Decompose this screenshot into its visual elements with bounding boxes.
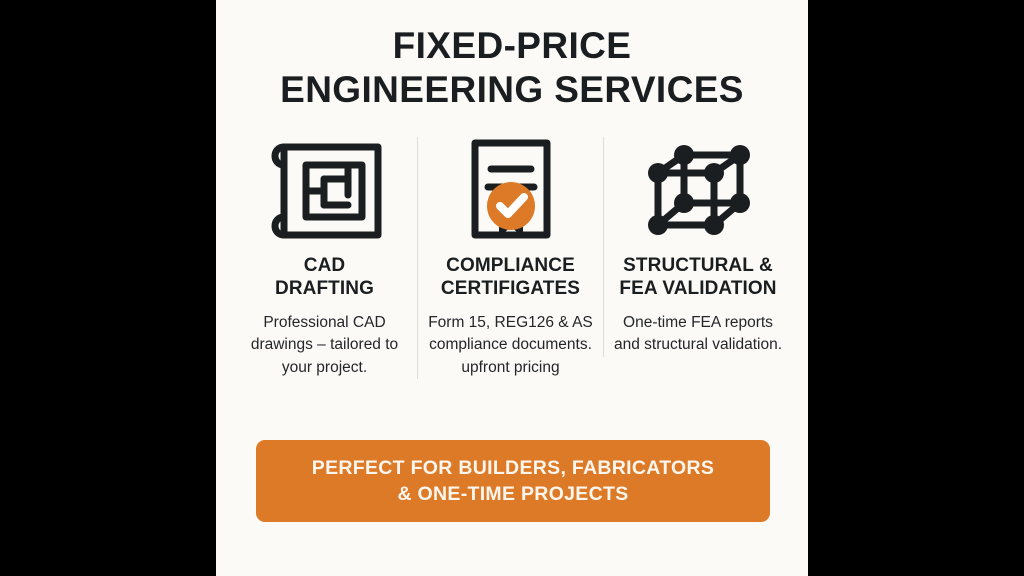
title-line-2: ENGINEERING SERVICES bbox=[280, 68, 744, 112]
certificate-seal-icon bbox=[455, 137, 567, 245]
feature-heading-line-1: CAD bbox=[275, 255, 374, 278]
feature-heading-line-1: STRUCTURAL & bbox=[619, 255, 776, 278]
promo-banner-line-1: PERFECT FOR BUILDERS, FABRICATORS bbox=[312, 455, 714, 481]
feature-body-cad-drafting: Professional CAD drawings – tailored to … bbox=[238, 312, 411, 379]
page-title: FIXED-PRICE ENGINEERING SERVICES bbox=[280, 24, 744, 111]
promo-banner: PERFECT FOR BUILDERS, FABRICATORS & ONE-… bbox=[256, 440, 770, 522]
feature-column-structural-fea-validation: STRUCTURAL & FEA VALIDATION One-time FEA… bbox=[603, 137, 792, 357]
promo-card: FIXED-PRICE ENGINEERING SERVICES bbox=[216, 0, 808, 576]
mesh-cube-icon bbox=[636, 137, 760, 245]
promo-banner-line-2: & ONE-TIME PROJECTS bbox=[312, 481, 714, 507]
feature-heading-line-2: DRAFTING bbox=[275, 278, 374, 301]
feature-heading-compliance-certificates: COMPLIANCE CERTIFIGATES bbox=[441, 255, 580, 301]
feature-heading-cad-drafting: CAD DRAFTING bbox=[275, 255, 374, 301]
feature-heading-line-2: FEA VALIDATION bbox=[619, 278, 776, 301]
screenshot-stage: FIXED-PRICE ENGINEERING SERVICES bbox=[0, 0, 1024, 576]
feature-heading-structural-fea-validation: STRUCTURAL & FEA VALIDATION bbox=[619, 255, 776, 301]
title-line-1: FIXED-PRICE bbox=[280, 24, 744, 68]
feature-column-cad-drafting: CAD DRAFTING Professional CAD drawings –… bbox=[232, 137, 417, 379]
feature-columns: CAD DRAFTING Professional CAD drawings –… bbox=[232, 137, 792, 379]
feature-body-compliance-certificates: Form 15, REG126 & AS compliance document… bbox=[424, 312, 597, 379]
feature-column-compliance-certificates: COMPLIANCE CERTIFIGATES Form 15, REG126 … bbox=[417, 137, 603, 379]
blueprint-roll-icon bbox=[262, 137, 388, 245]
feature-heading-line-1: COMPLIANCE bbox=[441, 255, 580, 278]
feature-heading-line-2: CERTIFIGATES bbox=[441, 278, 580, 301]
feature-body-structural-fea-validation: One-time FEA reports and structural vali… bbox=[610, 312, 786, 357]
promo-banner-text: PERFECT FOR BUILDERS, FABRICATORS & ONE-… bbox=[312, 455, 714, 508]
